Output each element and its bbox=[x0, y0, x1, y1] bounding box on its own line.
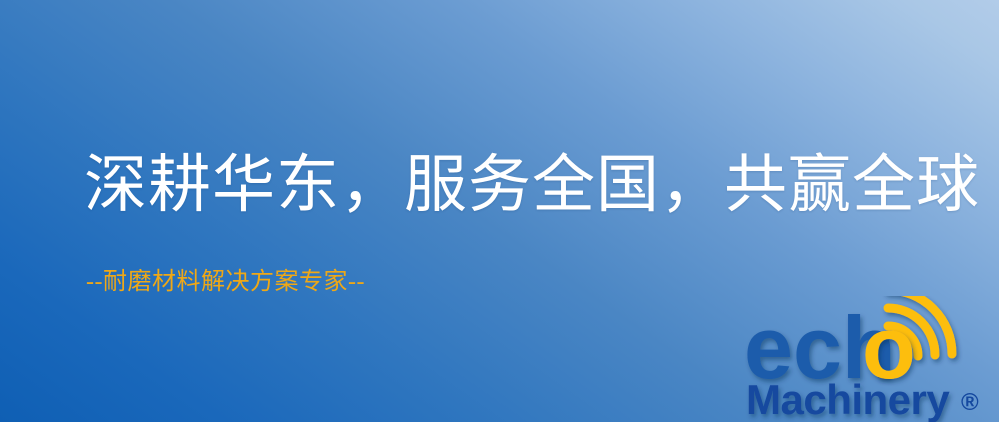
banner-subtitle: --耐磨材料解决方案专家-- bbox=[86, 268, 365, 297]
echo-machinery-logo: ech o Machinery ® bbox=[742, 296, 999, 422]
logo-subtext-machinery: Machinery bbox=[746, 376, 950, 422]
banner-headline: 深耕华东，服务全国，共赢全球 bbox=[84, 152, 980, 218]
registered-trademark-icon: ® bbox=[961, 389, 979, 416]
promotional-banner: 深耕华东，服务全国，共赢全球 --耐磨材料解决方案专家-- ech o Mach… bbox=[0, 0, 999, 422]
